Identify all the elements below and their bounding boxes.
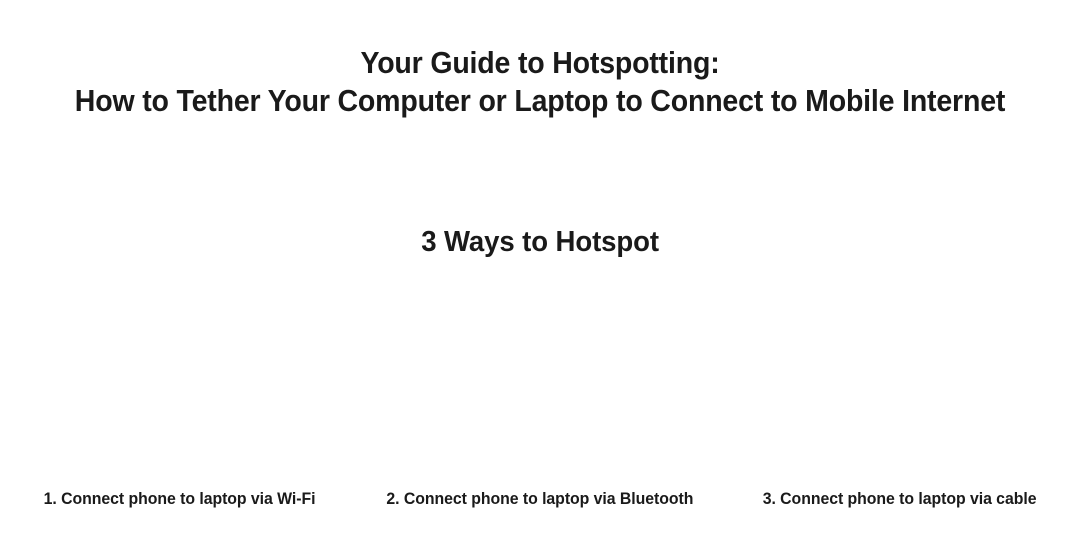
method-caption-row: 1. Connect phone to laptop via Wi-Fi 2. …	[0, 487, 1080, 511]
method-caption-2: 2. Connect phone to laptop via Bluetooth	[360, 487, 720, 511]
illustration-slot-bluetooth	[360, 280, 720, 475]
section-heading: 3 Ways to Hotspot	[0, 222, 1080, 262]
illustration-slot-wifi	[0, 280, 360, 475]
method-caption-3: 3. Connect phone to laptop via cable	[720, 487, 1080, 511]
page-title-line-1: Your Guide to Hotspotting:	[43, 44, 1037, 82]
infographic-page: Your Guide to Hotspotting: How to Tether…	[0, 0, 1080, 552]
method-caption-3-text: 3. Connect phone to laptop via cable	[763, 487, 1037, 511]
page-title: Your Guide to Hotspotting: How to Tether…	[0, 44, 1080, 120]
illustration-slot-cable	[720, 280, 1080, 475]
illustration-area	[0, 280, 1080, 475]
page-title-line-2: How to Tether Your Computer or Laptop to…	[43, 82, 1037, 120]
method-caption-2-text: 2. Connect phone to laptop via Bluetooth	[387, 487, 694, 511]
section-heading-text: 3 Ways to Hotspot	[421, 222, 659, 262]
method-caption-1: 1. Connect phone to laptop via Wi-Fi	[0, 487, 360, 511]
method-caption-1-text: 1. Connect phone to laptop via Wi-Fi	[44, 487, 316, 511]
